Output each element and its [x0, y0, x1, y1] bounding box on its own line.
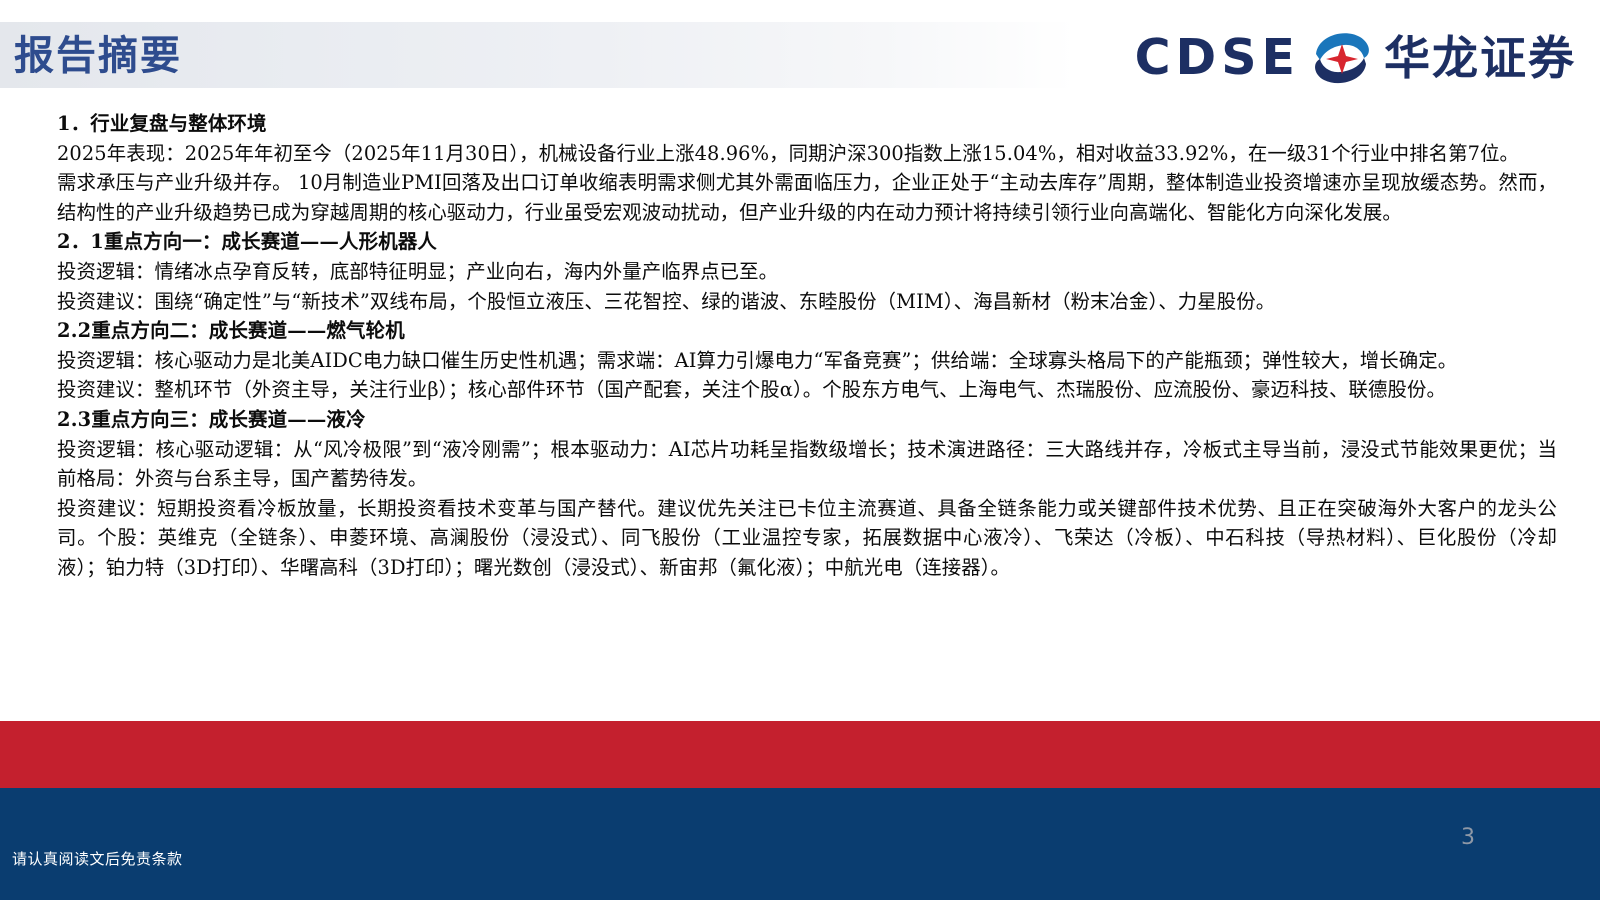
- footer-disclaimer: 请认真阅读文后免责条款: [12, 849, 183, 869]
- logo-chinese-text: 华龙证券: [1384, 30, 1576, 86]
- section-heading-2-3: 2.3重点方向三：成长赛道——液冷: [57, 405, 1557, 435]
- section-heading-2-2: 2.2重点方向二：成长赛道——燃气轮机: [57, 316, 1557, 346]
- section-heading-1: 1．行业复盘与整体环境: [57, 109, 1557, 139]
- section-2-1-advice: 投资建议：围绕“确定性”与“新技术”双线布局，个股恒立液压、三花智控、绿的谐波、…: [57, 287, 1557, 317]
- section-2-2-logic: 投资逻辑：核心驱动力是北美AIDC电力缺口催生历史性机遇；需求端：AI算力引爆电…: [57, 346, 1557, 376]
- section-2-3-logic: 投资逻辑：核心驱动逻辑：从“风冷极限”到“液冷刚需”；根本驱动力：AI芯片功耗呈…: [57, 435, 1557, 494]
- summary-body: 1．行业复盘与整体环境 2025年表现：2025年年初至今（2025年11月30…: [57, 109, 1557, 583]
- section-2-3-advice: 投资建议：短期投资看冷板放量，长期投资看技术变革与国产替代。建议优先关注已卡位主…: [57, 494, 1557, 583]
- footer-navy-bar: [0, 788, 1600, 900]
- slide-root: 报告摘要 CDSE 华龙证券 1．行业复盘与整体环境 2025年表现：2025年…: [0, 0, 1600, 900]
- section-2-1-logic: 投资逻辑：情绪冰点孕育反转，底部特征明显；产业向右，海内外量产临界点已至。: [57, 257, 1557, 287]
- cdse-swoosh-icon: [1306, 28, 1378, 88]
- section-1-paragraph-1: 2025年表现：2025年年初至今（2025年11月30日），机械设备行业上涨4…: [57, 139, 1557, 169]
- section-heading-2-1: 2．1重点方向一：成长赛道——人形机器人: [57, 227, 1557, 257]
- section-2-2-advice: 投资建议：整机环节（外资主导，关注行业β）；核心部件环节（国产配套，关注个股α）…: [57, 375, 1557, 405]
- company-logo: CDSE 华龙证券: [1135, 28, 1576, 88]
- page-title: 报告摘要: [14, 30, 182, 82]
- section-1-paragraph-2: 需求承压与产业升级并存。 10月制造业PMI回落及出口订单收缩表明需求侧尤其外需…: [57, 168, 1557, 227]
- logo-latin-text: CDSE: [1135, 30, 1300, 86]
- footer-red-bar: [0, 721, 1600, 788]
- page-number: 3: [1461, 825, 1475, 851]
